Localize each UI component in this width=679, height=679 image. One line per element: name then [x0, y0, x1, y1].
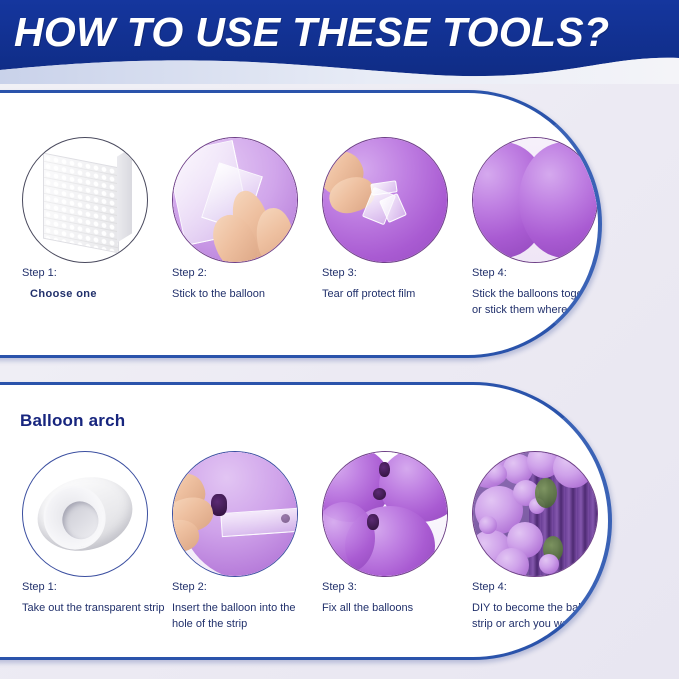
- step-description: Insert the balloon into the hole of the …: [172, 601, 332, 633]
- step-description: Stick the balloons together or stick the…: [472, 287, 602, 319]
- step-description: DIY to become the balloon strip or arch …: [472, 601, 612, 633]
- step-description: Stick to the balloon: [172, 287, 332, 303]
- step-description: Fix all the balloons: [322, 601, 482, 617]
- step-description: Choose one: [30, 287, 190, 303]
- step-label: Step 2:: [172, 582, 207, 594]
- peeling-protect-film-image: [322, 137, 448, 263]
- step-label: Step 4:: [472, 268, 507, 280]
- hand-sticking-film-image: [172, 137, 298, 263]
- transparent-strip-roll-image: [22, 451, 148, 577]
- step-description: Tear off protect film: [322, 287, 482, 303]
- step-label: Step 1:: [22, 268, 57, 280]
- inserting-balloon-image: [172, 451, 298, 577]
- page-title: HOW TO USE THESE TOOLS?: [14, 9, 674, 56]
- panel-glue-dots: Step 1: Choose one Step 2: Stick to the …: [0, 90, 602, 358]
- finished-arch-image: [472, 451, 598, 577]
- header-banner: HOW TO USE THESE TOOLS?: [0, 0, 679, 84]
- balloons-fixed-image: [322, 451, 448, 577]
- step-label: Step 3:: [322, 582, 357, 594]
- step-label: Step 4:: [472, 582, 507, 594]
- section-title: Balloon arch: [20, 411, 125, 431]
- glue-dot-sheet-image: [22, 137, 148, 263]
- step-description: Take out the transparent strip: [22, 601, 182, 617]
- two-balloons-together-image: [472, 137, 598, 263]
- step-label: Step 1:: [22, 582, 57, 594]
- panel-balloon-arch: Balloon arch Step 1: Take out the transp…: [0, 382, 612, 660]
- step-label: Step 3:: [322, 268, 357, 280]
- step-label: Step 2:: [172, 268, 207, 280]
